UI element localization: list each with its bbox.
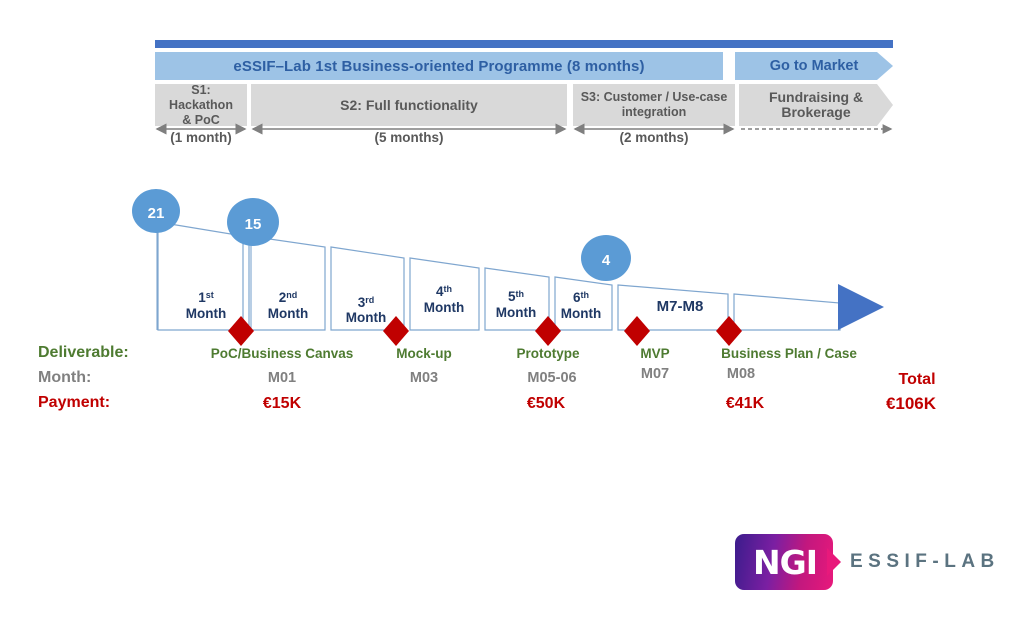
ngi-logo-notch-icon — [827, 548, 841, 576]
funnel-label-2b: Month — [268, 306, 308, 321]
month-label-2: M03 — [410, 370, 438, 386]
deliverable-label-4: MVP — [640, 346, 669, 361]
funnel-arrow-head — [838, 284, 884, 330]
funnel-label-4b: Month — [424, 300, 464, 315]
month-label-1: M01 — [268, 370, 296, 386]
payment-label-5: €41K — [726, 395, 764, 413]
deliverable-label-3: Prototype — [516, 346, 579, 361]
ngi-logo-text: NGI — [743, 542, 827, 582]
funnel-label-3b: Month — [346, 310, 386, 325]
payment-label-1: €15K — [263, 395, 301, 413]
month-label-3: M05-06 — [527, 370, 576, 386]
row-header-deliverable: Deliverable: — [38, 344, 129, 362]
funnel-segment-4 — [410, 258, 479, 330]
payment-label-3: €50K — [527, 395, 565, 413]
funnel-label-1b: Month — [186, 306, 226, 321]
funnel-segment-8 — [734, 294, 840, 330]
funnel-label-6b: Month — [561, 306, 601, 321]
funnel-segment-6 — [555, 277, 612, 330]
row-header-payment: Payment: — [38, 394, 110, 412]
deliverable-label-2: Mock-up — [396, 346, 452, 361]
counter-value-15: 15 — [245, 216, 262, 233]
counter-value-4: 4 — [602, 252, 611, 269]
funnel-label-5b: Month — [496, 305, 536, 320]
funnel-diagram: 21 15 4 1st Month 2nd Month 3rd Month 4t… — [0, 0, 1024, 642]
row-header-month: Month: — [38, 369, 91, 387]
month-label-4: M07 — [641, 366, 669, 382]
ngi-logo: NGI — [735, 534, 845, 590]
funnel-segment-5 — [485, 268, 549, 330]
deliverable-label-1: PoC/Business Canvas — [211, 346, 354, 361]
slide-canvas: eSSIF–Lab 1st Business-oriented Programm… — [0, 0, 1024, 642]
deliverable-label-5: Business Plan / Case — [721, 346, 857, 361]
month-label-5: M08 — [727, 366, 755, 382]
total-label: Total — [898, 371, 935, 389]
counter-value-21: 21 — [148, 205, 165, 222]
funnel-label-7: M7-M8 — [657, 298, 704, 315]
essif-lab-wordmark: ESSIF-LAB — [850, 551, 1000, 573]
total-value: €106K — [886, 394, 936, 414]
